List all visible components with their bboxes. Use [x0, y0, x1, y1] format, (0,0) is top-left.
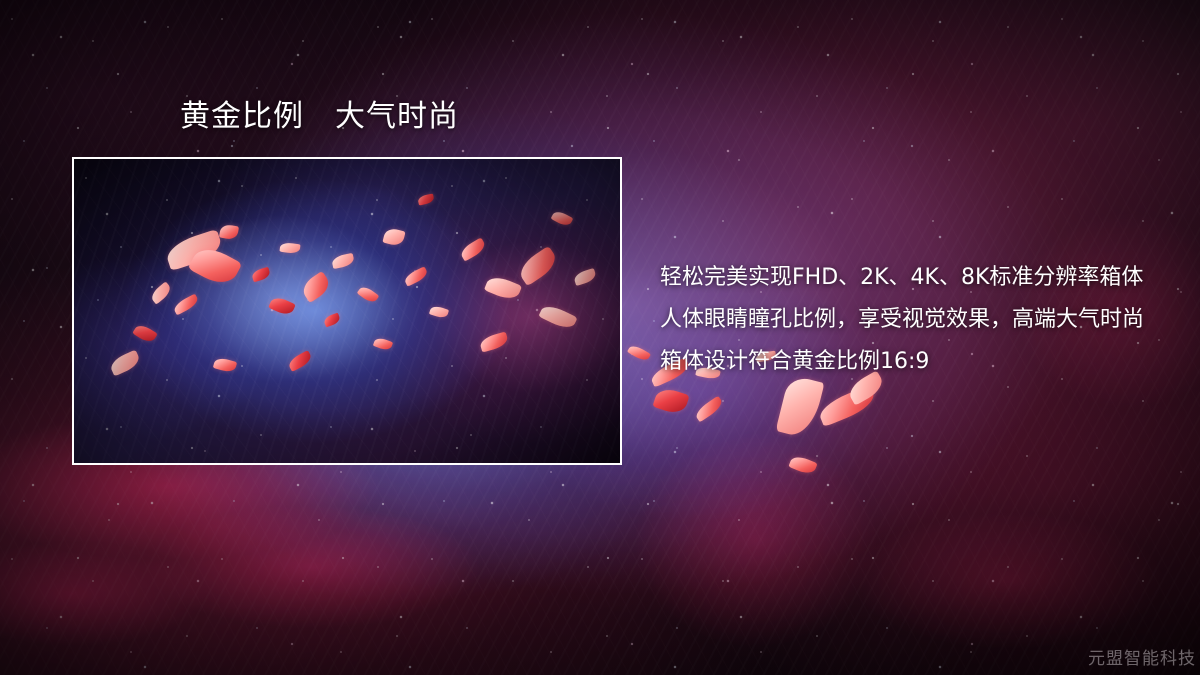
watermark: 元盟智能科技 — [1088, 644, 1196, 669]
body-copy-block: 轻松完美实现FHD、2K、4K、8K标准分辨率箱体 人体眼睛瞳孔比例，享受视觉效… — [660, 257, 1160, 383]
body-copy-line-2: 人体眼睛瞳孔比例，享受视觉效果，高端大气时尚 — [660, 299, 1160, 341]
presentation-slide: 黄金比例 大气时尚 轻松完美实现FHD、2K、4K、8K标准分辨率箱体 人体眼睛… — [0, 0, 1200, 675]
page-title: 黄金比例 大气时尚 — [180, 100, 459, 133]
body-copy-line-1: 轻松完美实现FHD、2K、4K、8K标准分辨率箱体 — [660, 257, 1160, 299]
body-copy-line-3: 箱体设计符合黄金比例16:9 — [660, 341, 1160, 383]
framed-photo-panel[interactable] — [72, 157, 622, 465]
photo-vignette — [74, 159, 620, 463]
